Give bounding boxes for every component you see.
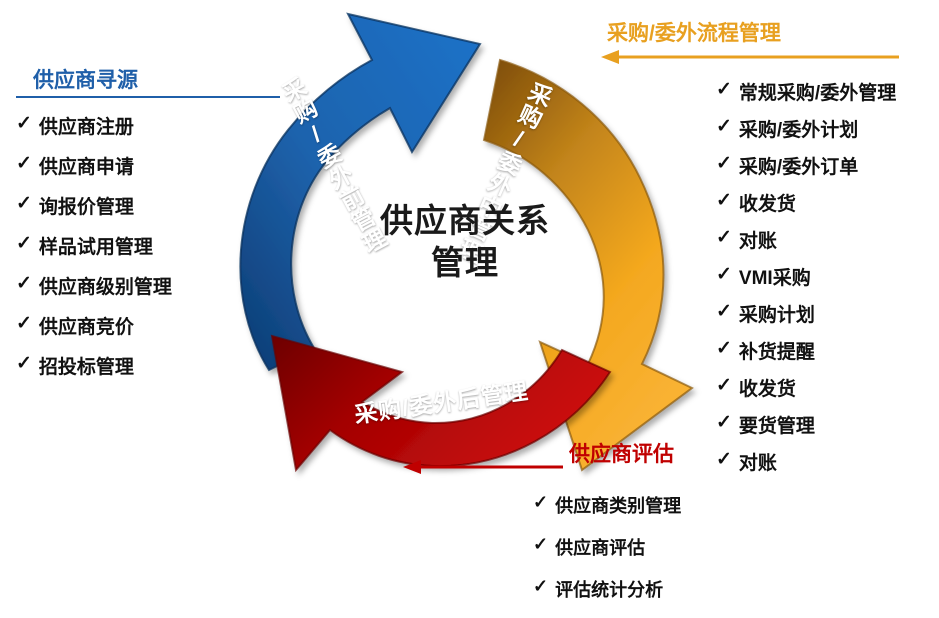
section-title-process: 采购/委外流程管理 <box>607 17 781 47</box>
center-title-line2: 管理 <box>345 242 585 284</box>
section-arrow-evaluation <box>403 458 563 476</box>
list-evaluation: ✓供应商类别管理 ✓供应商评估 ✓评估统计分析 <box>533 492 681 618</box>
list-item-label: 供应商评估 <box>555 534 645 560</box>
list-item-label: 收发货 <box>739 374 796 401</box>
list-item: ✓样品试用管理 <box>16 232 172 259</box>
list-item: ✓要货管理 <box>716 411 896 438</box>
diagram-canvas: 采购/委外前管理 采购/委外中管理 采购/委外后管理 供应商关系 管理 供应商寻… <box>0 0 939 601</box>
list-item: ✓补货提醒 <box>716 337 896 364</box>
check-icon: ✓ <box>716 226 732 249</box>
list-item-label: 要货管理 <box>739 411 815 438</box>
list-item-label: 常规采购/委外管理 <box>739 78 896 105</box>
list-item: ✓采购计划 <box>716 300 896 327</box>
center-title-line1: 供应商关系 <box>345 200 585 242</box>
list-item-label: 对账 <box>739 448 777 475</box>
list-item: ✓收发货 <box>716 189 896 216</box>
check-icon: ✓ <box>716 300 732 323</box>
list-item-label: VMI采购 <box>739 263 811 290</box>
check-icon: ✓ <box>16 272 32 295</box>
list-item: ✓供应商级别管理 <box>16 272 172 299</box>
list-item-label: 询报价管理 <box>39 192 134 219</box>
check-icon: ✓ <box>533 576 548 597</box>
list-item: ✓评估统计分析 <box>533 576 681 602</box>
list-item: ✓供应商申请 <box>16 152 172 179</box>
list-item-label: 样品试用管理 <box>39 232 153 259</box>
list-item-label: 供应商申请 <box>39 152 134 179</box>
list-item: ✓供应商竞价 <box>16 312 172 339</box>
list-item-label: 采购/委外计划 <box>739 115 858 142</box>
list-process: ✓常规采购/委外管理 ✓采购/委外计划 ✓采购/委外订单 ✓收发货 ✓对账 ✓V… <box>716 78 896 485</box>
check-icon: ✓ <box>716 448 732 471</box>
check-icon: ✓ <box>16 232 32 255</box>
list-item: ✓VMI采购 <box>716 263 896 290</box>
list-item: ✓对账 <box>716 226 896 253</box>
check-icon: ✓ <box>533 534 548 555</box>
list-item: ✓询报价管理 <box>16 192 172 219</box>
section-title-sourcing: 供应商寻源 <box>33 64 138 94</box>
section-rule-sourcing <box>16 96 280 98</box>
section-title-evaluation: 供应商评估 <box>569 438 674 468</box>
check-icon: ✓ <box>716 374 732 397</box>
check-icon: ✓ <box>16 152 32 175</box>
check-icon: ✓ <box>716 411 732 434</box>
list-item: ✓采购/委外计划 <box>716 115 896 142</box>
section-arrow-process <box>601 48 901 66</box>
list-item-label: 收发货 <box>739 189 796 216</box>
list-item: ✓对账 <box>716 448 896 475</box>
list-item: ✓供应商类别管理 <box>533 492 681 518</box>
check-icon: ✓ <box>16 352 32 375</box>
list-item: ✓招投标管理 <box>16 352 172 379</box>
check-icon: ✓ <box>716 337 732 360</box>
list-item-label: 供应商注册 <box>39 112 134 139</box>
list-item-label: 供应商竞价 <box>39 312 134 339</box>
list-item-label: 招投标管理 <box>39 352 134 379</box>
list-item-label: 评估统计分析 <box>555 576 663 602</box>
check-icon: ✓ <box>16 312 32 335</box>
check-icon: ✓ <box>716 78 732 101</box>
check-icon: ✓ <box>716 263 732 286</box>
list-item: ✓采购/委外订单 <box>716 152 896 179</box>
list-item-label: 供应商级别管理 <box>39 272 172 299</box>
check-icon: ✓ <box>716 152 732 175</box>
check-icon: ✓ <box>533 492 548 513</box>
check-icon: ✓ <box>16 112 32 135</box>
check-icon: ✓ <box>716 115 732 138</box>
list-item: ✓常规采购/委外管理 <box>716 78 896 105</box>
check-icon: ✓ <box>716 189 732 212</box>
list-item: ✓供应商注册 <box>16 112 172 139</box>
list-item-label: 采购/委外订单 <box>739 152 858 179</box>
list-item-label: 采购计划 <box>739 300 815 327</box>
center-title: 供应商关系 管理 <box>345 200 585 284</box>
list-item-label: 对账 <box>739 226 777 253</box>
list-sourcing: ✓供应商注册 ✓供应商申请 ✓询报价管理 ✓样品试用管理 ✓供应商级别管理 ✓供… <box>16 112 172 392</box>
check-icon: ✓ <box>16 192 32 215</box>
list-item: ✓收发货 <box>716 374 896 401</box>
list-item: ✓供应商评估 <box>533 534 681 560</box>
list-item-label: 供应商类别管理 <box>555 492 681 518</box>
list-item-label: 补货提醒 <box>739 337 815 364</box>
